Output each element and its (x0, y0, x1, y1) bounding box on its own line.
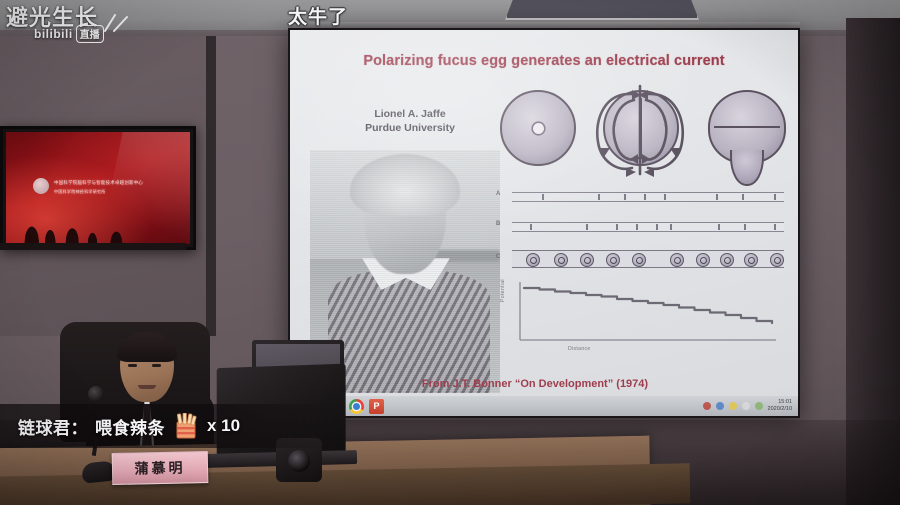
egg-unpolarized-icon (500, 90, 576, 166)
danmaku-comment: 太牛了 (288, 2, 348, 29)
side-display-stand (0, 243, 186, 250)
chart-svg (496, 276, 782, 356)
panel-label-a: A (496, 191, 500, 197)
speaker-nameplate-text: 蒲慕明 (134, 457, 185, 478)
speaker-mouth (138, 385, 156, 389)
ceiling-vent (505, 0, 699, 20)
tray-network-icon[interactable] (742, 402, 750, 410)
side-display: 中国科学院脑科学与智能技术卓越创新中心 中国科学院神经科学研究所 (0, 126, 196, 250)
panel-label-c: C (496, 254, 500, 260)
panel-label-b: B (496, 221, 500, 227)
tray-volume-icon[interactable] (729, 402, 737, 410)
strip-panel-a (512, 192, 784, 202)
strip-panel-b (512, 222, 784, 232)
clock-date: 2020/2/10 (768, 406, 792, 413)
speaker-nameplate: 蒲慕明 (112, 451, 209, 485)
microphone-icon (88, 386, 104, 402)
left-wall-edge (206, 36, 216, 336)
chart-y-axis-label: Potential (500, 279, 506, 302)
side-display-screen: 中国科学院脑科学与智能技术卓越创新中心 中国科学院神经科学研究所 (6, 132, 190, 244)
stream-frame: 中国科学院脑科学与智能技术卓越创新中心 中国科学院神经科学研究所 Polariz… (0, 0, 900, 505)
watermark-brand: bilibili (34, 27, 73, 41)
spicy-strips-icon (172, 413, 200, 439)
tray-security-icon[interactable] (755, 402, 763, 410)
slide-canvas: Polarizing fucus egg generates an electr… (290, 30, 798, 396)
gift-sender: 链球君： (18, 414, 88, 439)
camera-lens-icon (288, 450, 310, 472)
institute-logo-icon (33, 178, 49, 194)
tray-icon-1[interactable] (703, 402, 711, 410)
gift-count: x 10 (207, 416, 240, 436)
side-display-line2: 中国科学院神经科学研究所 (54, 189, 106, 195)
powerpoint-icon[interactable]: P (369, 399, 384, 414)
slide-credit: From J.T. Bonner “On Development” (1974) (290, 378, 780, 390)
rhizoid-outgrowth-icon (730, 150, 764, 186)
slide-figure-column: A B C (490, 78, 790, 360)
figure-egg-series (490, 78, 790, 182)
watermark-logo: bilibili 直播 (34, 25, 104, 43)
chrome-icon[interactable] (349, 399, 364, 414)
windows-taskbar[interactable]: 开始 P 15:01 2020/2/10 (290, 396, 798, 416)
speaker-eye-right (152, 364, 161, 367)
potential-distance-chart: Potential Distance (490, 276, 790, 360)
projection-screen: Polarizing fucus egg generates an electr… (288, 28, 800, 418)
stream-watermark: 避光生长 bilibili 直播 (6, 0, 132, 48)
tray-icon-2[interactable] (716, 402, 724, 410)
current-loop-arrows-icon (586, 78, 694, 182)
gift-notification: 链球君： 喂食辣条 (0, 404, 328, 448)
slide-author-name: Lionel A. Jaffe (330, 107, 490, 121)
watermark-live-badge: 直播 (76, 25, 104, 43)
strip-panel-c (512, 250, 784, 268)
chart-x-axis-label: Distance (568, 346, 591, 352)
taskbar-clock[interactable]: 15:01 2020/2/10 (768, 399, 794, 414)
side-display-glare (95, 132, 190, 244)
slide-author-affiliation: Purdue University (330, 121, 490, 135)
figure-strip-panels: A B C (490, 184, 790, 270)
slide-title: Polarizing fucus egg generates an electr… (290, 53, 798, 69)
clock-time: 15:01 (768, 399, 792, 406)
slide-author-block: Lionel A. Jaffe Purdue University (330, 107, 490, 135)
speaker-eye-left (128, 364, 137, 367)
watermark-ears-icon (102, 12, 132, 34)
gift-action: 喂食辣条 (95, 414, 165, 439)
